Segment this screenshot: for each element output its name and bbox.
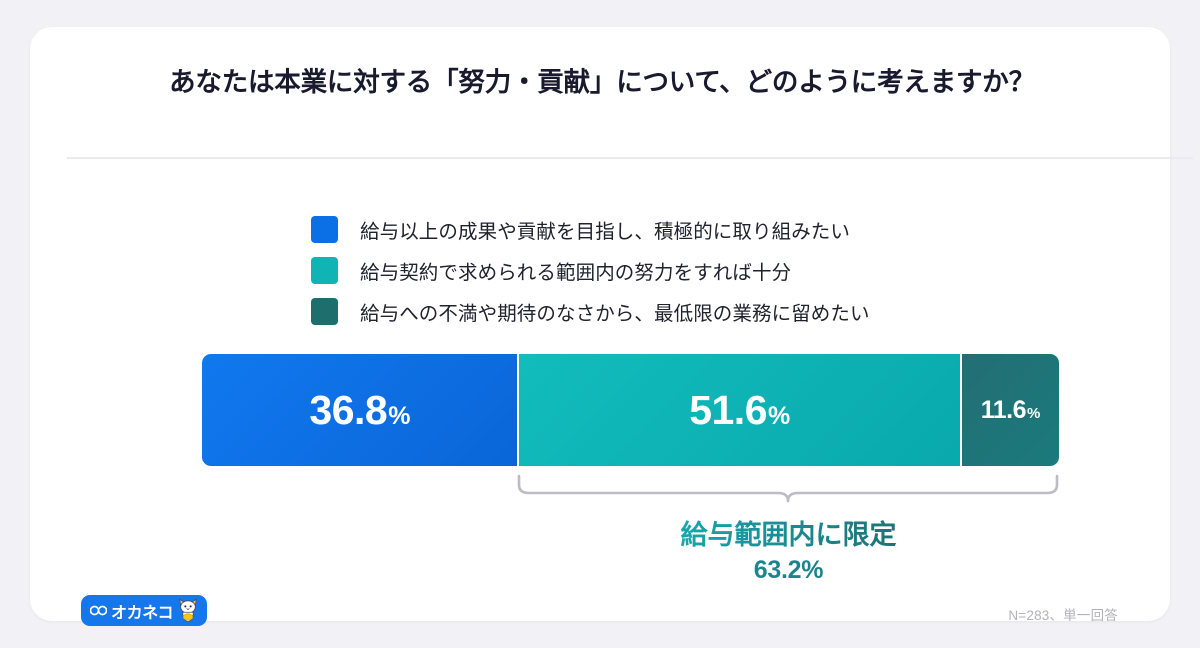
legend-item-label: 給与以上の成果や貢献を目指し、積極的に取り組みたい — [360, 215, 850, 244]
bracket-annotation: 給与範囲内に限定 63.2% — [516, 519, 1061, 586]
survey-result-card: あなたは本業に対する「努力・貢献」について、どのように考えますか？ 給与以上の成… — [30, 27, 1170, 621]
curly-brace-icon — [516, 474, 1061, 504]
title-divider — [67, 157, 1193, 159]
sample-size-note: N=283、単一回答 — [1008, 604, 1118, 624]
legend-swatch-icon — [311, 216, 338, 243]
legend-item-label: 給与契約で求められる範囲内の努力をすれば十分 — [360, 256, 791, 285]
stacked-bar-chart: 36.8% 51.6% 11.6% — [202, 354, 1059, 466]
bar-segment-value: 51.6% — [689, 387, 790, 434]
percent-sign: % — [768, 402, 790, 431]
okaneko-logo[interactable]: オカネコ — [81, 595, 207, 626]
percent-sign: % — [1027, 405, 1040, 422]
legend-item-1: 給与契約で求められる範囲内の努力をすれば十分 — [311, 254, 870, 286]
bar-segment-number: 11.6 — [981, 396, 1026, 425]
bar-segment: 36.8% — [202, 354, 517, 466]
legend-swatch-icon — [311, 298, 338, 325]
bar-segment-value: 36.8% — [309, 387, 410, 434]
legend-item-0: 給与以上の成果や貢献を目指し、積極的に取り組みたい — [311, 213, 870, 245]
annotation-value: 63.2% — [516, 554, 1061, 587]
screenshot-root: あなたは本業に対する「努力・貢献」について、どのように考えますか？ 給与以上の成… — [0, 0, 1200, 648]
legend-swatch-icon — [311, 257, 338, 284]
bar-segment-number: 51.6 — [689, 387, 767, 434]
okaneko-glasses-icon — [90, 605, 107, 616]
legend-item-label: 給与への不満や期待のなさから、最低限の業務に留めたい — [360, 297, 870, 326]
bar-segment-number: 36.8 — [309, 387, 387, 434]
bar-segment: 11.6% — [960, 354, 1059, 466]
chart-legend: 給与以上の成果や貢献を目指し、積極的に取り組みたい 給与契約で求められる範囲内の… — [311, 213, 870, 327]
legend-item-2: 給与への不満や期待のなさから、最低限の業務に留めたい — [311, 295, 870, 327]
cat-mascot-icon — [176, 597, 200, 624]
bar-segment-value: 11.6% — [981, 396, 1040, 425]
logo-text: オカネコ — [111, 599, 173, 623]
page-title: あなたは本業に対する「努力・貢献」について、どのように考えますか？ — [152, 65, 1052, 99]
percent-sign: % — [388, 402, 410, 431]
bar-segment: 51.6% — [517, 354, 959, 466]
annotation-label: 給与範囲内に限定 — [681, 519, 897, 553]
